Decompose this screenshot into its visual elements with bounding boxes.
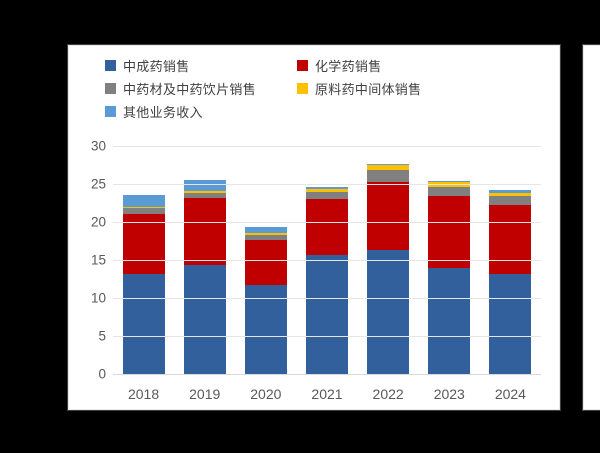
- legend-label: 原料药中间体销售: [315, 79, 421, 98]
- y-axis-tick-label: 15: [91, 253, 106, 268]
- bar-segment[interactable]: [428, 196, 470, 267]
- legend-item[interactable]: 原料药中间体销售: [297, 79, 507, 98]
- legend-row: 其他业务收入: [105, 100, 535, 123]
- bar-segment[interactable]: [184, 180, 226, 191]
- x-axis-tick-label: 2019: [189, 386, 220, 402]
- y-axis-tick-label: 30: [91, 139, 106, 154]
- legend-label: 中药材及中药饮片销售: [123, 79, 256, 98]
- x-axis-tick-label: 2023: [434, 386, 465, 402]
- bar-segment[interactable]: [245, 240, 287, 285]
- x-axis-tick-label: 2020: [250, 386, 281, 402]
- gridline: [113, 184, 541, 185]
- chart-card: 中成药销售化学药销售中药材及中药饮片销售原料药中间体销售其他业务收入 20182…: [68, 45, 560, 410]
- gridline: [113, 298, 541, 299]
- bar-segment[interactable]: [367, 182, 409, 250]
- screenshot-root: 中成药销售化学药销售中药材及中药饮片销售原料药中间体销售其他业务收入 20182…: [0, 0, 600, 453]
- bar-segment[interactable]: [123, 274, 165, 374]
- x-axis-tick-label: 2021: [311, 386, 342, 402]
- bar-segment[interactable]: [184, 265, 226, 374]
- gridline: [113, 336, 541, 337]
- legend-swatch-icon: [105, 60, 116, 71]
- bar-segment[interactable]: [123, 195, 165, 206]
- legend-label: 化学药销售: [315, 56, 382, 75]
- legend-swatch-icon: [297, 60, 308, 71]
- bar-segment[interactable]: [123, 214, 165, 273]
- gridline: [113, 260, 541, 261]
- legend-item[interactable]: 中成药销售: [105, 56, 297, 75]
- y-axis-tick-label: 5: [98, 329, 106, 344]
- bar-segment[interactable]: [306, 199, 348, 255]
- legend-swatch-icon: [105, 106, 116, 117]
- x-axis-tick-label: 2022: [373, 386, 404, 402]
- bar-segment[interactable]: [489, 205, 531, 273]
- gridline: [113, 222, 541, 223]
- legend-label: 中成药销售: [123, 56, 190, 75]
- legend-row: 中成药销售化学药销售: [105, 54, 535, 77]
- y-axis-tick-label: 20: [91, 215, 106, 230]
- bar-segment[interactable]: [489, 274, 531, 374]
- x-axis-tick-label: 2024: [495, 386, 526, 402]
- y-axis-tick-label: 10: [91, 291, 106, 306]
- legend-swatch-icon: [105, 83, 116, 94]
- legend-label: 其他业务收入: [123, 102, 203, 121]
- legend-item[interactable]: 化学药销售: [297, 56, 507, 75]
- adjacent-slide-card: [583, 45, 600, 410]
- bar-segment[interactable]: [184, 198, 226, 265]
- chart-legend: 中成药销售化学药销售中药材及中药饮片销售原料药中间体销售其他业务收入: [105, 54, 535, 123]
- bar-segment[interactable]: [306, 192, 348, 200]
- bar-segment[interactable]: [367, 170, 409, 181]
- bar-segment[interactable]: [489, 196, 531, 205]
- bar-segment[interactable]: [306, 255, 348, 374]
- y-axis-tick-label: 0: [98, 367, 106, 382]
- bar-segment[interactable]: [428, 187, 470, 196]
- bar-segment[interactable]: [367, 250, 409, 374]
- bar-segment[interactable]: [428, 268, 470, 374]
- x-axis-tick-label: 2018: [128, 386, 159, 402]
- y-axis-tick-label: 25: [91, 177, 106, 192]
- legend-item[interactable]: 其他业务收入: [105, 102, 297, 121]
- gridline: [113, 374, 541, 375]
- gridline: [113, 146, 541, 147]
- legend-swatch-icon: [297, 83, 308, 94]
- legend-item[interactable]: 中药材及中药饮片销售: [105, 79, 297, 98]
- chart-plot-area: 2018201920202021202220232024 05101520253…: [113, 146, 541, 374]
- legend-row: 中药材及中药饮片销售原料药中间体销售: [105, 77, 535, 100]
